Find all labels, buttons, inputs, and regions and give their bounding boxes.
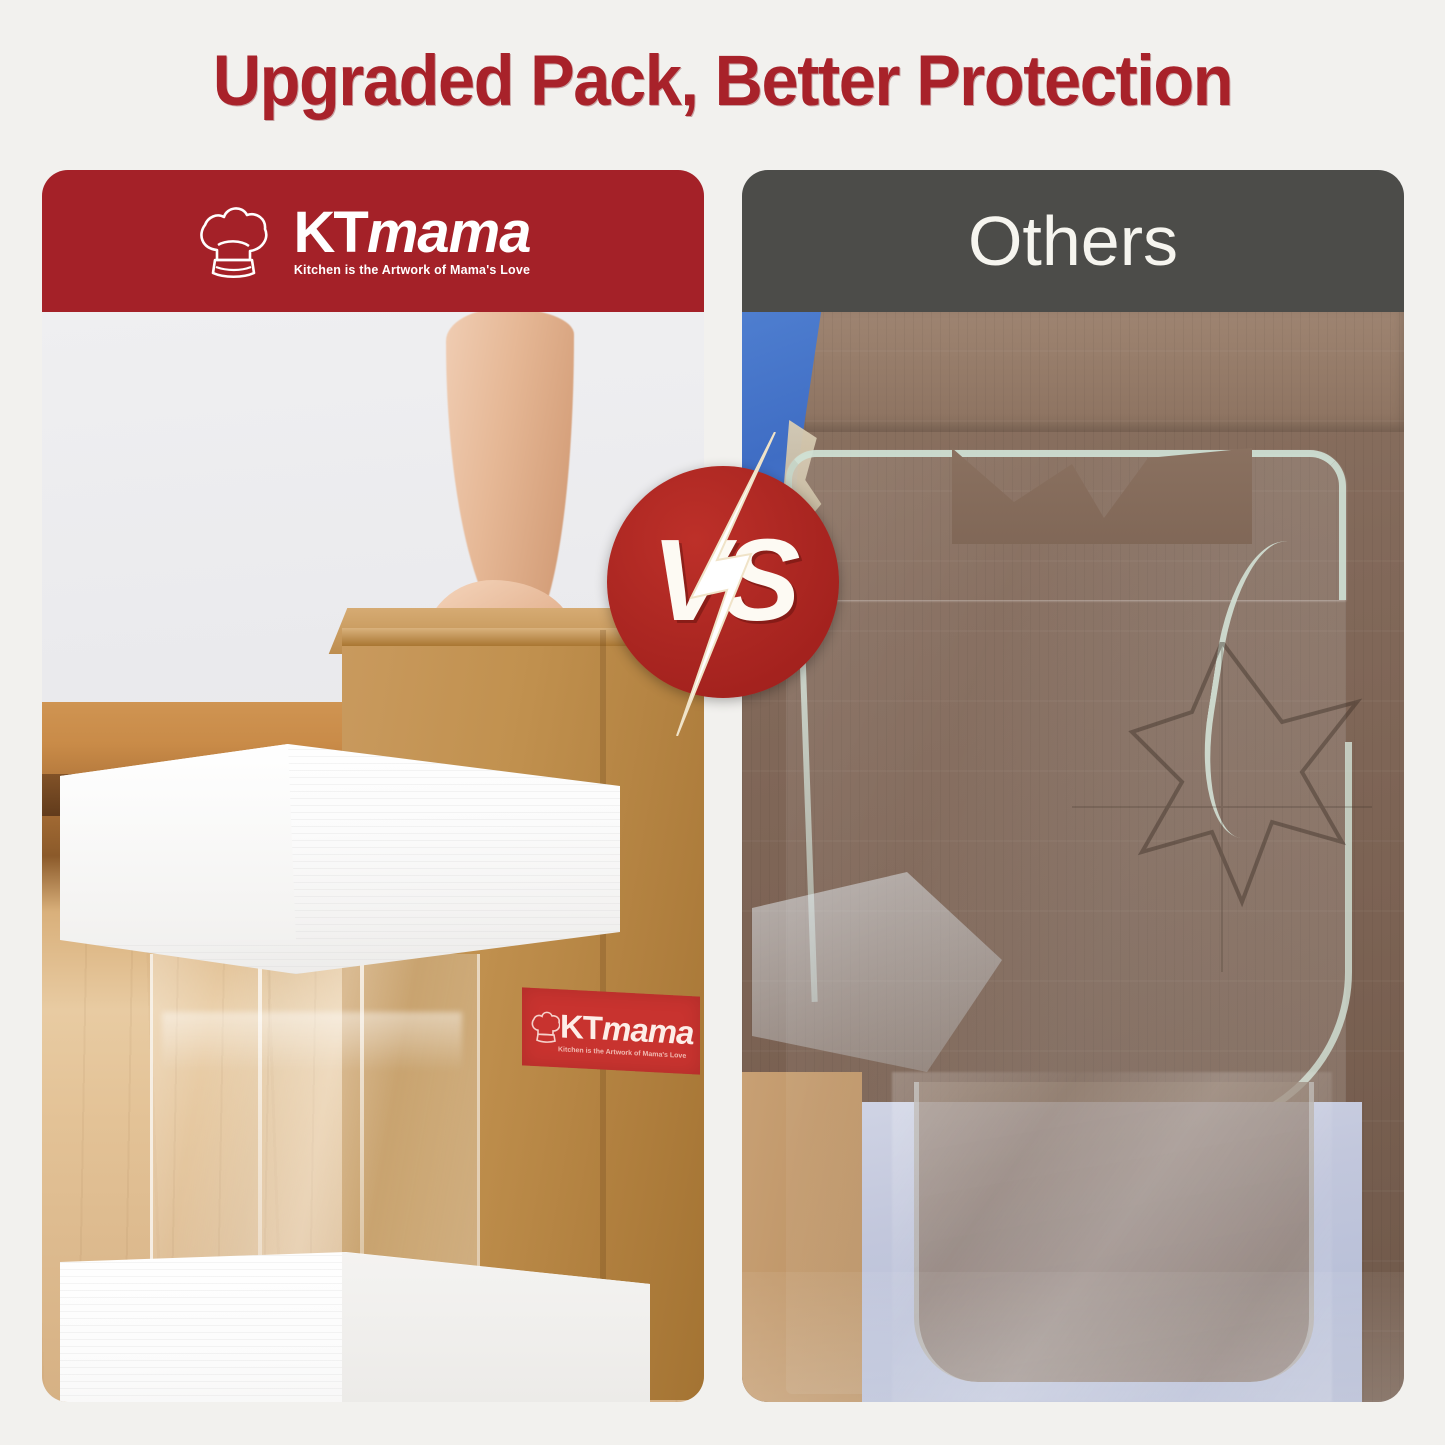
- page-title: Upgraded Pack, Better Protection: [43, 46, 1401, 117]
- brand-name-kt: KT: [294, 200, 367, 265]
- carton-label-chef-hat-icon: [530, 1008, 560, 1048]
- brand-tagline-row: Kitchen is the Artwork of Mama's Love: [285, 263, 539, 277]
- others-header-bar: Others: [742, 170, 1404, 312]
- others-title: Others: [968, 201, 1178, 281]
- ktmama-wordmark: KTmama Kitchen is the Artwork of Mama's …: [285, 205, 539, 278]
- ktmama-header-bar: KTmama Kitchen is the Artwork of Mama's …: [42, 170, 704, 312]
- versus-label: VS: [607, 464, 839, 696]
- ktmama-logo: KTmama Kitchen is the Artwork of Mama's …: [195, 200, 539, 282]
- chef-hat-icon: [195, 200, 271, 282]
- carton-label-kt: KT: [560, 1007, 602, 1046]
- brand-tagline: Kitchen is the Artwork of Mama's Love: [294, 263, 530, 277]
- brand-name: KTmama: [294, 205, 531, 261]
- infographic-canvas: Upgraded Pack, Better Protection KTmama: [0, 0, 1445, 1445]
- carton-label-wordmark: KTmama: [560, 1009, 693, 1049]
- foam-block-top-front-face: [60, 744, 300, 974]
- comparison-panel-ktmama: KTmama Kitchen is the Artwork of Mama's …: [42, 170, 704, 1402]
- carton-label-mama: mama: [602, 1010, 693, 1052]
- versus-badge: VS: [607, 466, 839, 698]
- glass-reflection: [162, 1012, 462, 1072]
- comparison-panel-others: Others: [742, 170, 1404, 1402]
- crack-pattern-icon: [1072, 642, 1372, 972]
- carton-ktmama-label: KTmama Kitchen is the Artwork of Mama's …: [522, 987, 700, 1074]
- glass-container: [150, 954, 480, 1274]
- bottom-light-gradient: [742, 1272, 1404, 1402]
- glass-ridge-2: [360, 954, 364, 1274]
- brand-name-mama: mama: [367, 200, 531, 265]
- ktmama-photo: KTmama Kitchen is the Artwork of Mama's …: [42, 312, 704, 1402]
- glass-ridge-1: [258, 954, 262, 1274]
- others-photo: [742, 312, 1404, 1402]
